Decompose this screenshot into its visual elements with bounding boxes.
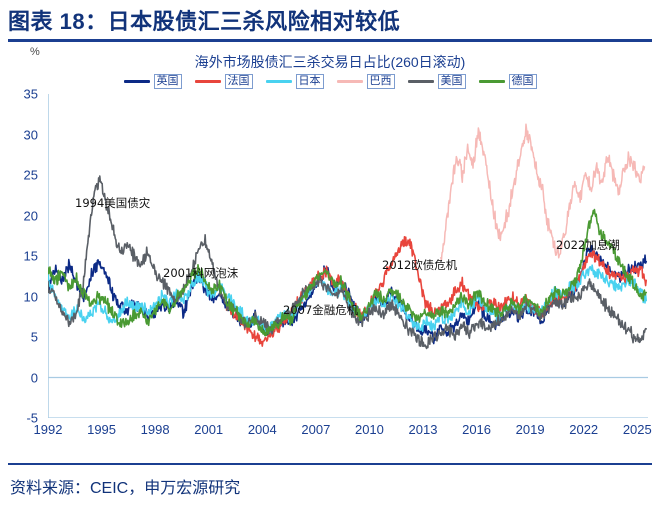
x-tick-label: 2007 bbox=[301, 422, 330, 437]
legend-item-usa[interactable]: 美国 bbox=[408, 74, 466, 89]
legend-label-brazil: 巴西 bbox=[367, 74, 395, 89]
plot-area bbox=[48, 94, 648, 418]
legend-swatch-usa bbox=[408, 80, 434, 83]
x-tick-label: 2016 bbox=[462, 422, 491, 437]
x-tick-label: 2010 bbox=[355, 422, 384, 437]
chart-subtitle: 海外市场股债汇三杀交易日占比(260日滚动) bbox=[0, 52, 660, 72]
y-axis-labels: -505101520253035 bbox=[0, 94, 44, 418]
anno-2012: 2012欧债危机 bbox=[382, 257, 457, 273]
legend-label-japan: 日本 bbox=[296, 74, 324, 89]
legend-item-germany[interactable]: 德国 bbox=[479, 74, 537, 89]
legend-label-usa: 美国 bbox=[438, 74, 466, 89]
chart-legend: 英国法国日本巴西美国德国 bbox=[0, 74, 660, 89]
x-tick-label: 2001 bbox=[194, 422, 223, 437]
x-tick-label: 2019 bbox=[516, 422, 545, 437]
anno-2007: 2007金融危机 bbox=[283, 302, 358, 318]
y-tick-label: 35 bbox=[24, 87, 38, 102]
legend-item-brazil[interactable]: 巴西 bbox=[337, 74, 395, 89]
x-tick-label: 2025 bbox=[623, 422, 652, 437]
legend-item-france[interactable]: 法国 bbox=[195, 74, 253, 89]
y-tick-label: 5 bbox=[31, 330, 38, 345]
title-divider bbox=[8, 39, 652, 42]
x-tick-label: 1995 bbox=[87, 422, 116, 437]
y-tick-label: 20 bbox=[24, 208, 38, 223]
figure-title-bar: 图表 18：日本股债汇三杀风险相对较低 bbox=[0, 0, 660, 40]
y-tick-label: 10 bbox=[24, 289, 38, 304]
x-tick-label: 1998 bbox=[141, 422, 170, 437]
legend-swatch-uk bbox=[124, 80, 150, 83]
source-divider bbox=[8, 463, 652, 465]
x-tick-label: 2022 bbox=[569, 422, 598, 437]
legend-label-france: 法国 bbox=[225, 74, 253, 89]
anno-1994: 1994美国债灾 bbox=[75, 195, 150, 211]
legend-label-uk: 英国 bbox=[154, 74, 182, 89]
page-title: 图表 18：日本股债汇三杀风险相对较低 bbox=[0, 4, 400, 36]
source-note: 资料来源：CEIC，申万宏源研究 bbox=[10, 474, 240, 498]
legend-swatch-japan bbox=[266, 80, 292, 83]
legend-swatch-germany bbox=[479, 80, 505, 83]
anno-2001: 2001科网泡沫 bbox=[163, 265, 238, 281]
legend-item-japan[interactable]: 日本 bbox=[266, 74, 324, 89]
x-tick-label: 2013 bbox=[409, 422, 438, 437]
legend-item-uk[interactable]: 英国 bbox=[124, 74, 182, 89]
x-tick-label: 1992 bbox=[34, 422, 63, 437]
series-canvas bbox=[48, 94, 648, 418]
y-tick-label: 15 bbox=[24, 249, 38, 264]
legend-label-germany: 德国 bbox=[509, 74, 537, 89]
legend-swatch-france bbox=[195, 80, 221, 83]
y-tick-label: 25 bbox=[24, 168, 38, 183]
anno-2022: 2022加息潮 bbox=[556, 237, 620, 253]
x-axis-labels: 1992199519982001200420072010201320162019… bbox=[48, 422, 648, 444]
legend-swatch-brazil bbox=[337, 80, 363, 83]
y-tick-label: 30 bbox=[24, 127, 38, 142]
chart-container: % 海外市场股债汇三杀交易日占比(260日滚动) 英国法国日本巴西美国德国 -5… bbox=[0, 44, 660, 460]
x-tick-label: 2004 bbox=[248, 422, 277, 437]
y-tick-label: 0 bbox=[31, 370, 38, 385]
